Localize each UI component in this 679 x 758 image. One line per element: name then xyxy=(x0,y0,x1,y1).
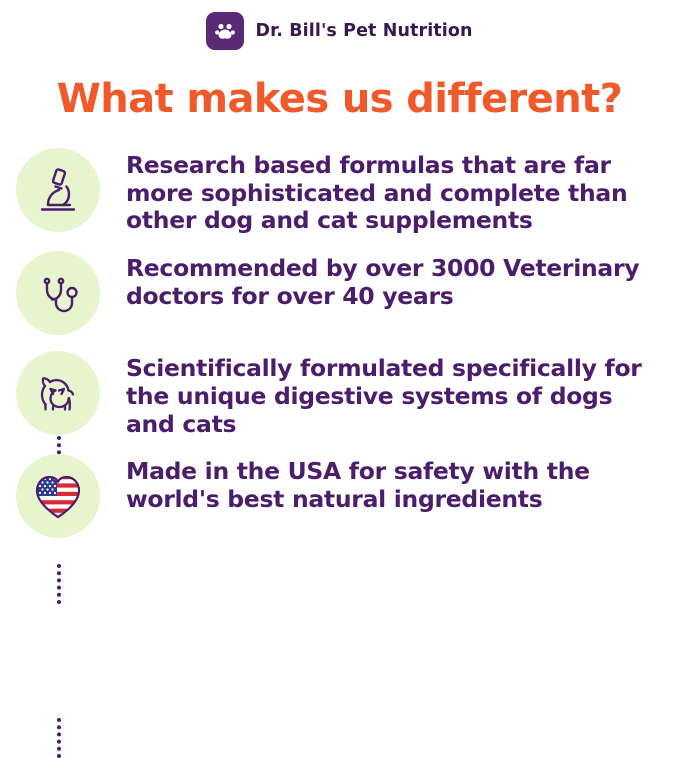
badge-column xyxy=(10,148,106,232)
page-title: What makes us different? xyxy=(0,76,679,122)
badge-column xyxy=(10,251,106,335)
stethoscope-icon xyxy=(30,265,86,321)
microscope-icon xyxy=(30,162,86,218)
pet-paw-logo-icon xyxy=(206,12,244,50)
list-item: Scientifically formulated specifically f… xyxy=(10,351,661,438)
feature-text: Scientifically formulated specifically f… xyxy=(106,351,661,438)
feature-badge xyxy=(16,251,100,335)
brand-header: Dr. Bill's Pet Nutrition xyxy=(0,0,679,48)
feature-text: Research based formulas that are far mor… xyxy=(106,148,661,235)
badge-column xyxy=(10,351,106,435)
brand-name: Dr. Bill's Pet Nutrition xyxy=(255,21,472,41)
feature-text: Recommended by over 3000 Veterinary doct… xyxy=(106,251,661,310)
usa-flag-heart-icon xyxy=(29,469,87,523)
feature-text: Made in the USA for safety with the worl… xyxy=(106,454,661,513)
list-item: Recommended by over 3000 Veterinary doct… xyxy=(10,251,661,335)
dotted-connector xyxy=(57,718,61,758)
feature-list: Research based formulas that are far mor… xyxy=(0,148,679,538)
feature-badge xyxy=(16,454,100,538)
badge-column xyxy=(10,454,106,538)
list-item: Research based formulas that are far mor… xyxy=(10,148,661,235)
feature-badge xyxy=(16,351,100,435)
list-item: Made in the USA for safety with the worl… xyxy=(10,454,661,538)
dotted-connector xyxy=(57,564,61,604)
feature-badge xyxy=(16,148,100,232)
dog-and-cat-icon xyxy=(29,364,87,422)
